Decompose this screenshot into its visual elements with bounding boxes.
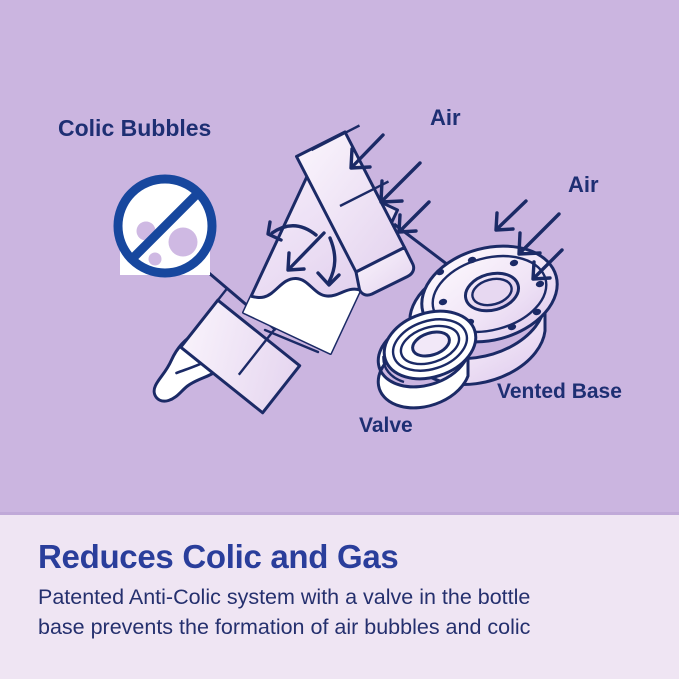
anti-colic-diagram: Colic Bubbles Air Air Valve Vented Base — [0, 0, 679, 515]
diagram-panel: Colic Bubbles Air Air Valve Vented Base — [0, 0, 679, 515]
label-valve: Valve — [359, 414, 413, 437]
product-feature-card: Colic Bubbles Air Air Valve Vented Base … — [0, 0, 679, 679]
caption-headline: Reduces Colic and Gas — [38, 539, 648, 576]
bubble-tiny — [149, 253, 162, 266]
caption-panel: Reduces Colic and Gas Patented Anti-Coli… — [0, 515, 679, 679]
label-air-top: Air — [430, 105, 461, 130]
caption-inner: Reduces Colic and Gas Patented Anti-Coli… — [38, 539, 648, 643]
bubble-large — [169, 228, 198, 257]
no-colic-bubbles-icon — [118, 179, 212, 275]
label-colic-bubbles: Colic Bubbles — [58, 115, 211, 141]
caption-body-line-2: base prevents the formation of air bubbl… — [38, 612, 648, 643]
caption-body: Patented Anti-Colic system with a valve … — [38, 582, 648, 643]
caption-body-line-1: Patented Anti-Colic system with a valve … — [38, 582, 648, 613]
label-vented-base: Vented Base — [497, 380, 622, 403]
label-air-right: Air — [568, 172, 599, 197]
